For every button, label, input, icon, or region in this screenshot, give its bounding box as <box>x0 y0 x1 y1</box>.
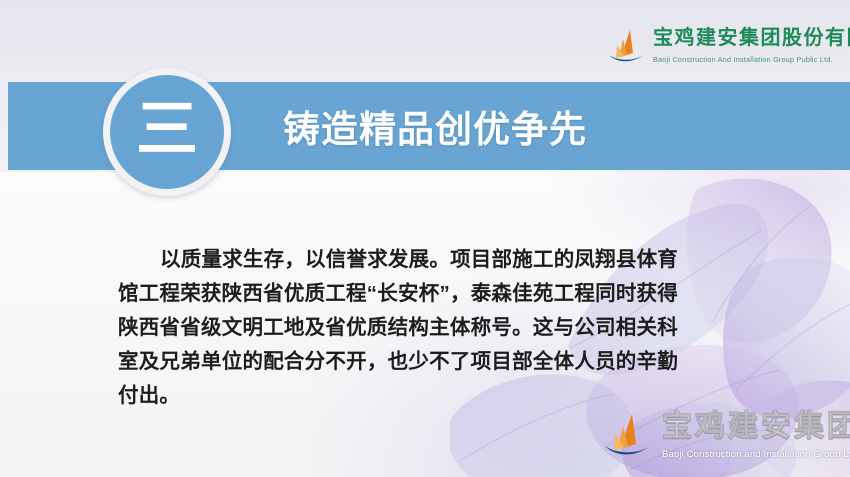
section-number-label: 三 <box>136 99 198 161</box>
header-company-logo: 宝鸡建安集团股份有限公司 Baoji Construction And Inst… <box>605 27 850 67</box>
body-paragraph: 以质量求生存，以信誉求发展。项目部施工的凤翔县体育馆工程荣获陕西省优质工程“长安… <box>118 243 678 413</box>
footer-company-name-en: Baoji Construction and Installation Grou… <box>662 449 850 460</box>
footer-company-name-cn: 宝鸡建安集团 <box>662 410 850 443</box>
section-number-badge: 三 <box>103 68 231 196</box>
footer-company-name-group: 宝鸡建安集团 Baoji Construction and Installati… <box>662 410 850 462</box>
header-company-name-en: Baoji Construction And Installation Grou… <box>653 55 833 64</box>
baoji-sail-logo-icon <box>600 410 656 462</box>
header-company-name-cn: 宝鸡建安集团股份有限公司 <box>653 27 850 49</box>
slide-canvas: 铸造精品创优争先 三 以质量求生存，以信誉求发展。项目部施工的凤翔县体育馆工程荣… <box>0 0 850 477</box>
section-title: 铸造精品创优争先 <box>283 82 587 170</box>
baoji-sail-logo-icon <box>605 27 649 67</box>
header-company-name-group: 宝鸡建安集团股份有限公司 Baoji Construction And Inst… <box>653 27 850 67</box>
footer-company-logo: 宝鸡建安集团 Baoji Construction and Installati… <box>600 410 850 462</box>
